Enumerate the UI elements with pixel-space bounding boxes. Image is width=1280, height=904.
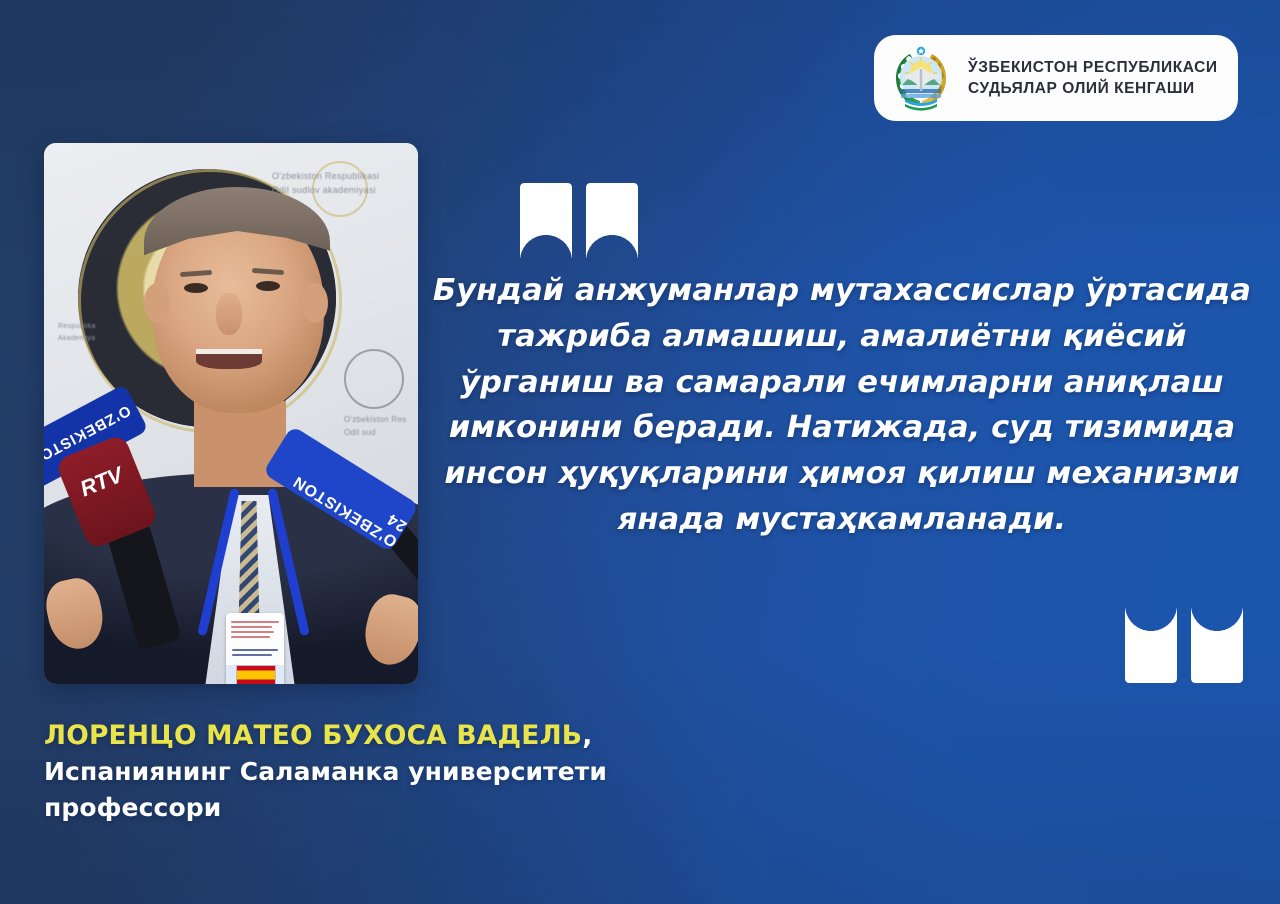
speaker-eye-left <box>184 283 208 293</box>
speaker-name-line: ЛОРЕНЦО МАТЕО БУХОСА ВАДЕЛЬ, <box>44 718 904 754</box>
speaker-role-line-2: профессори <box>44 790 904 827</box>
speaker-name: ЛОРЕНЦО МАТЕО БУХОСА ВАДЕЛЬ <box>44 720 582 751</box>
backdrop-text-6: Akademiya <box>58 335 95 342</box>
backdrop-emblem-small-bottom <box>344 349 404 409</box>
spain-flag-icon <box>236 665 276 684</box>
quote-close-mark-icon <box>1125 605 1243 683</box>
logo-line-1: ЎЗБЕКИСТОН РЕСПУБЛИКАСИ <box>968 59 1218 76</box>
backdrop-text-3: O'zbekiston Res <box>344 415 407 424</box>
backdrop-text-2: Odil sudlov akademiyasi <box>272 185 376 195</box>
uzbekistan-coat-of-arms-icon <box>888 45 954 111</box>
speaker-eye-right <box>256 281 280 291</box>
quote-text: Бундай анжуманлар мутахассислар ўртасида… <box>432 268 1252 543</box>
quote-open-mark-icon <box>520 183 638 261</box>
speaker-mouth <box>196 349 262 369</box>
speaker-name-comma: , <box>582 720 592 751</box>
speaker-ear-left <box>144 283 170 323</box>
attribution: ЛОРЕНЦО МАТЕО БУХОСА ВАДЕЛЬ, Испаниянинг… <box>44 718 904 827</box>
quote-card: ЎЗБЕКИСТОН РЕСПУБЛИКАСИ СУДЬЯЛАР ОЛИЙ КЕ… <box>0 0 1280 904</box>
organization-name: ЎЗБЕКИСТОН РЕСПУБЛИКАСИ СУДЬЯЛАР ОЛИЙ КЕ… <box>968 59 1218 97</box>
speaker-photo: O'zbekiston Respublikasi Odil sudlov aka… <box>44 143 418 684</box>
logo-line-2: СУДЬЯЛАР ОЛИЙ КЕНГАШИ <box>968 80 1218 97</box>
backdrop-text-5: Respublika <box>58 323 96 330</box>
speaker-ear-right <box>302 283 328 323</box>
speaker-role-line-1: Испаниянинг Саламанка университети <box>44 754 904 791</box>
organization-logo-badge: ЎЗБЕКИСТОН РЕСПУБЛИКАСИ СУДЬЯЛАР ОЛИЙ КЕ… <box>874 35 1238 121</box>
speaker-nose <box>216 293 242 335</box>
backdrop-text-1: O'zbekiston Respublikasi <box>272 171 379 181</box>
conference-badge <box>226 613 284 684</box>
backdrop-text-4: Odil sud <box>344 428 376 437</box>
